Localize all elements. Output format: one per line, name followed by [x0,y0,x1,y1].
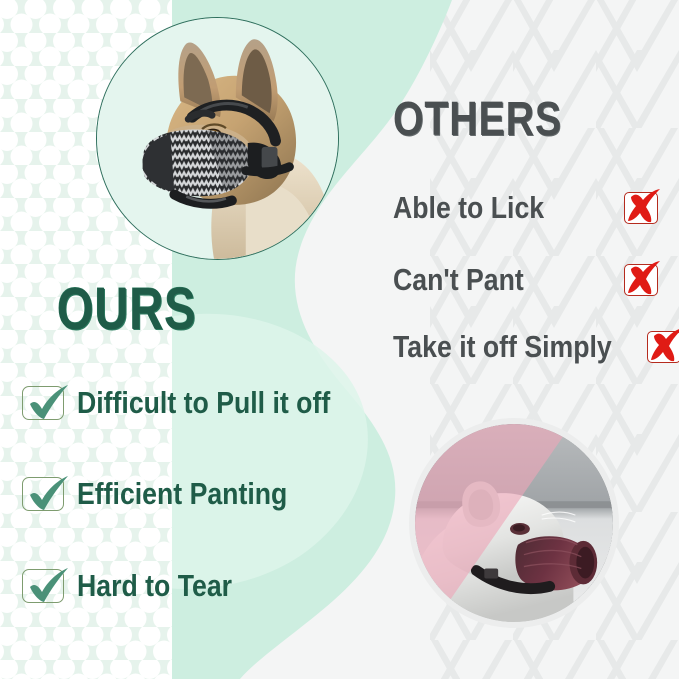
check-icon [22,477,64,511]
ours-feature-label: Difficult to Pull it off [77,385,330,421]
others-feature-label: Can't Pant [393,262,524,298]
cross-icon [647,331,679,363]
ours-feature-label: Efficient Panting [77,476,287,512]
german-shepherd-with-mesh-muzzle-photo [96,17,339,260]
comparison-infographic: OURS OTHERS Difficult to Pull it off Eff… [0,0,679,679]
check-icon [22,386,64,420]
ours-feature-row: Difficult to Pull it off [22,385,371,421]
others-feature-row: Can't Pant [393,262,658,298]
ours-feature-row: Efficient Panting [22,476,322,512]
others-feature-row: Able to Lick [393,190,658,226]
others-feature-row: Take it off Simply [393,329,658,365]
cross-icon [624,192,658,224]
ours-feature-label: Hard to Tear [77,568,232,604]
ours-heading: OURS [57,279,197,339]
others-feature-label: Able to Lick [393,190,544,226]
ours-feature-row: Hard to Tear [22,568,257,604]
cross-icon [624,264,658,296]
check-icon [22,569,64,603]
others-feature-label: Take it off Simply [393,329,612,365]
others-heading: OTHERS [393,95,562,144]
white-dog-with-nylon-muzzle-photo [409,418,619,628]
